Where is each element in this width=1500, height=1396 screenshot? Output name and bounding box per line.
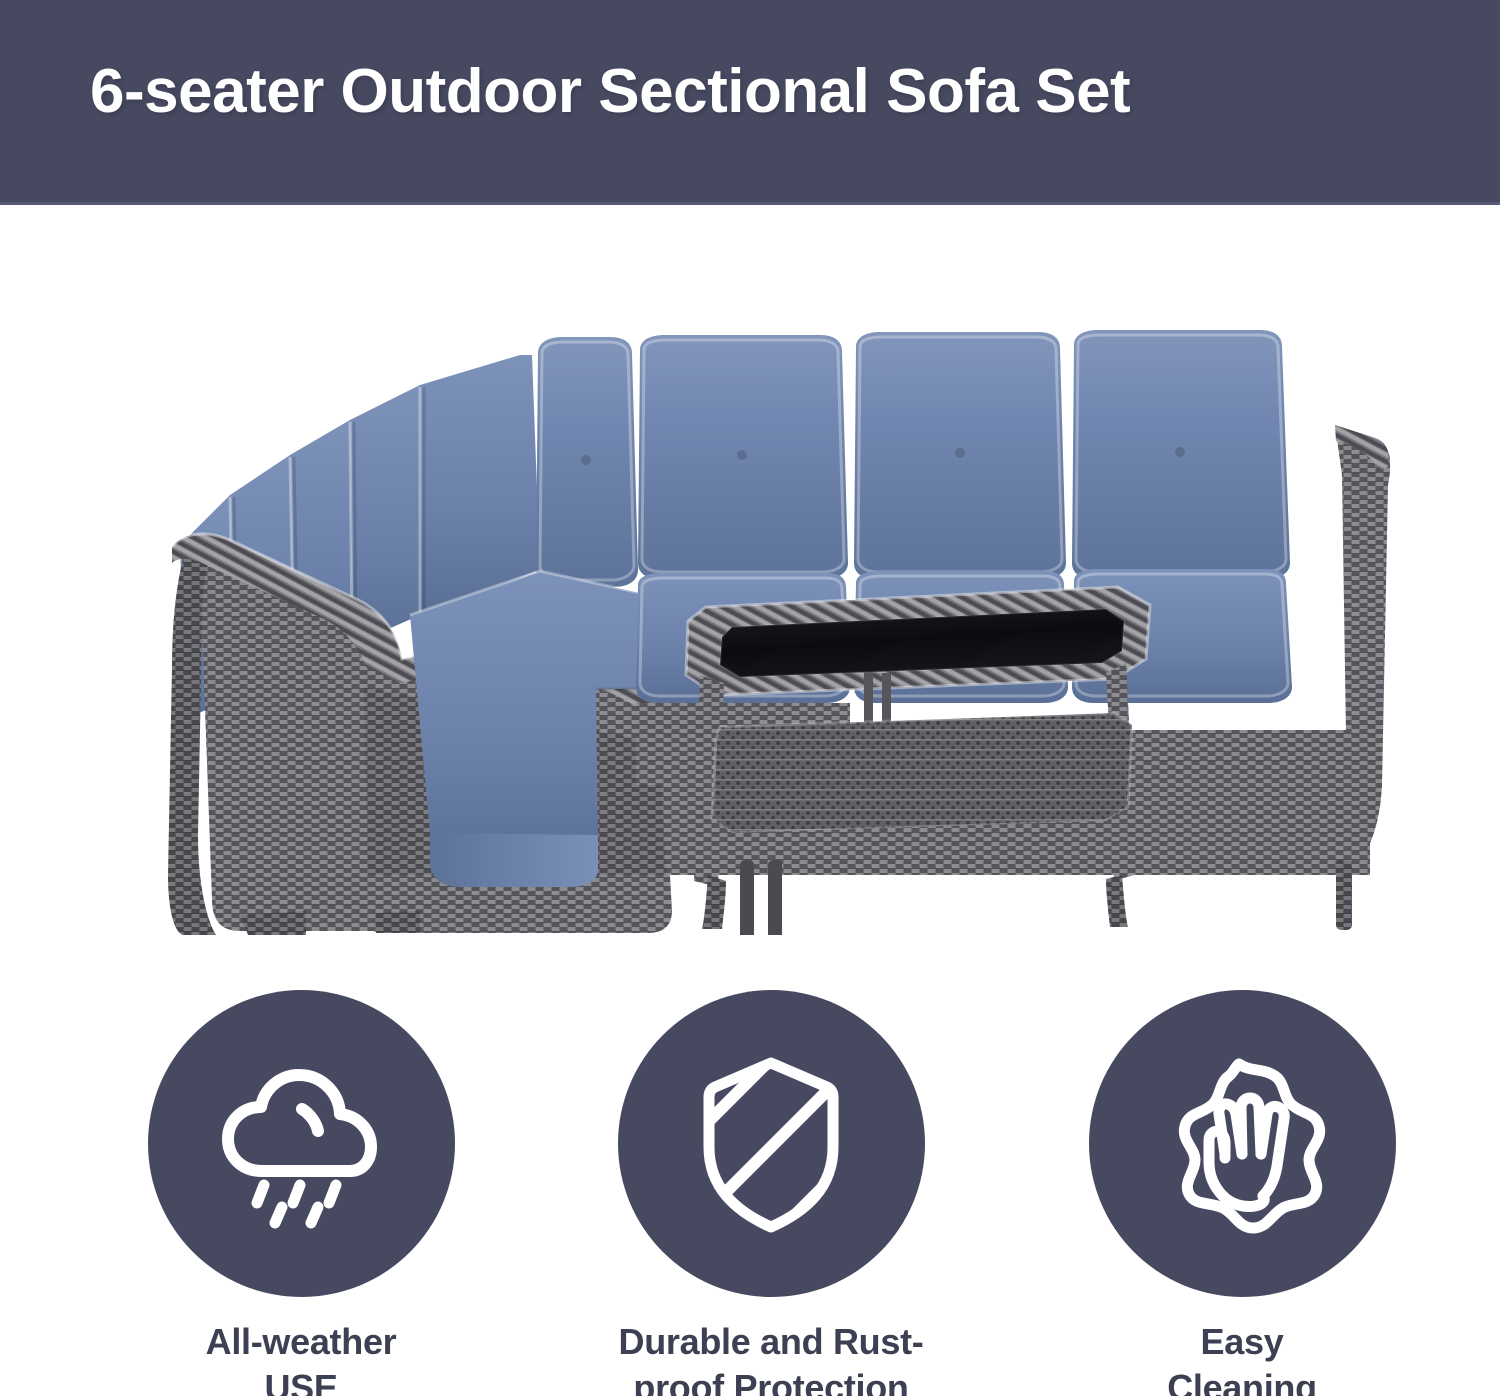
product-photo bbox=[120, 315, 1390, 935]
feature-label-line2: Cleaning bbox=[1042, 1365, 1442, 1396]
header-banner: 6-seater Outdoor Sectional Sofa Set bbox=[0, 0, 1500, 205]
feature-label: All-weather USE bbox=[101, 1319, 501, 1396]
right-back-cushions bbox=[638, 330, 1290, 579]
shield-icon bbox=[681, 1049, 861, 1239]
feature-label-line2: USE bbox=[101, 1365, 501, 1396]
coffee-table bbox=[686, 587, 1150, 929]
feature-label: Durable and Rust- proof Protection bbox=[571, 1319, 971, 1396]
feature-icon-badge bbox=[618, 990, 925, 1297]
feature-label-line1: Easy bbox=[1042, 1319, 1442, 1365]
feature-rust-proof: Durable and Rust- proof Protection bbox=[571, 990, 971, 1396]
hand-wipe-icon bbox=[1147, 1054, 1337, 1234]
feature-label-line1: All-weather bbox=[101, 1319, 501, 1365]
product-marketing-page: 6-seater Outdoor Sectional Sofa Set bbox=[0, 0, 1500, 1396]
feature-label-line2: proof Protection bbox=[571, 1365, 971, 1396]
feature-icon-badge bbox=[1089, 990, 1396, 1297]
rain-cloud-icon bbox=[206, 1059, 396, 1229]
feature-easy-cleaning: Easy Cleaning bbox=[1042, 990, 1442, 1396]
product-image-stage bbox=[0, 205, 1500, 980]
feature-label-line1: Durable and Rust- bbox=[571, 1319, 971, 1365]
feature-icon-badge bbox=[148, 990, 455, 1297]
feature-label: Easy Cleaning bbox=[1042, 1319, 1442, 1396]
page-title: 6-seater Outdoor Sectional Sofa Set bbox=[90, 56, 1130, 127]
sectional-sofa-illustration bbox=[120, 315, 1390, 935]
feature-all-weather: All-weather USE bbox=[101, 990, 501, 1396]
